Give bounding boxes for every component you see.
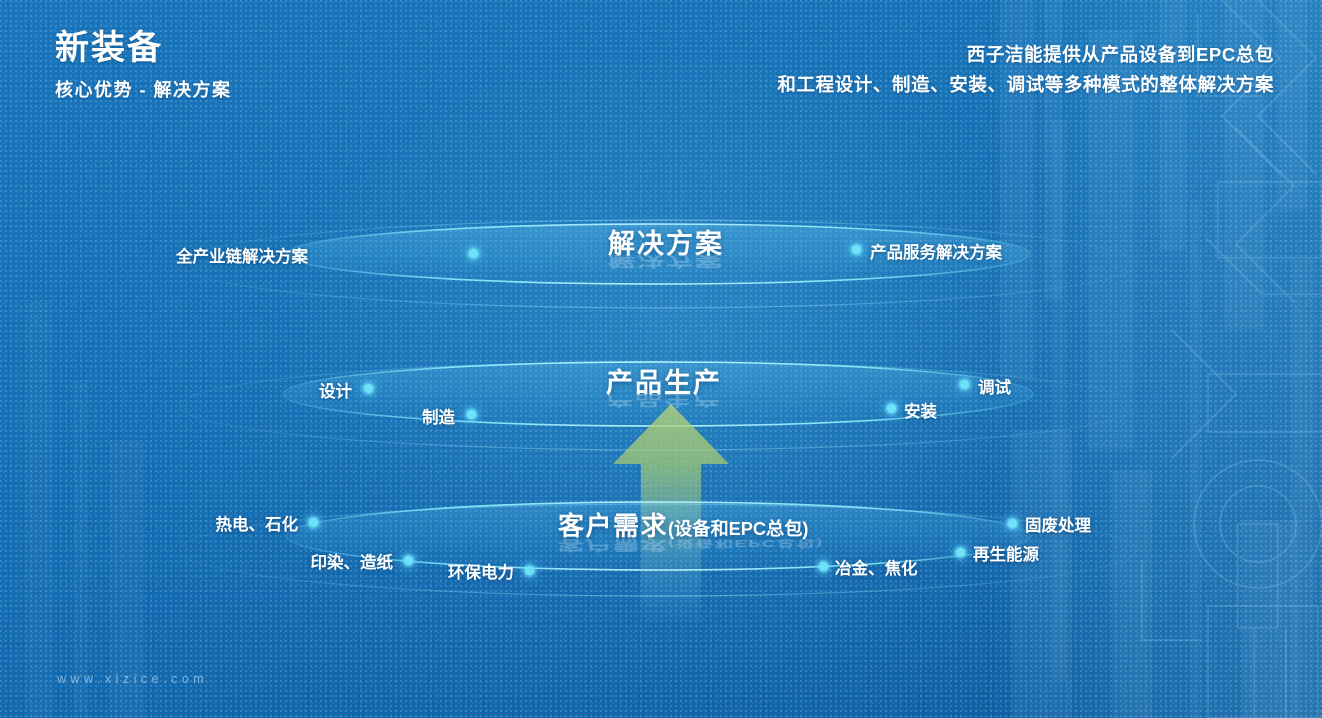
node-dot-design[interactable] bbox=[364, 384, 373, 393]
node-dot-installation[interactable] bbox=[887, 404, 896, 413]
node-label-solid-waste[interactable]: 固废处理 bbox=[1025, 512, 1091, 536]
ring-customer-demand-reflection-suffix: (设备和EPC总包) bbox=[668, 538, 823, 549]
node-dot-environmental-power[interactable] bbox=[525, 566, 534, 575]
node-dot-metallurgy-coking[interactable] bbox=[819, 562, 828, 571]
ring-production: 产品生产 产品生产 设计 制造 安装 调试 bbox=[178, 358, 1138, 450]
node-label-manufacture[interactable]: 制造 bbox=[422, 404, 455, 428]
tagline-line-2: 和工程设计、制造、安装、调试等多种模式的整体解决方案 bbox=[777, 70, 1274, 100]
node-dot-manufacture[interactable] bbox=[467, 410, 476, 419]
ring-customer-demand-title-reflection: 客户需求(设备和EPC总包) bbox=[558, 536, 823, 556]
header-left-block: 新装备 核心优势 - 解决方案 bbox=[55, 30, 232, 102]
node-label-full-chain[interactable]: 全产业链解决方案 bbox=[176, 243, 308, 267]
page-subtitle: 核心优势 - 解决方案 bbox=[55, 76, 232, 102]
ring-solution-reflection-text: 解决方案 bbox=[608, 253, 724, 270]
node-label-metallurgy-coking[interactable]: 冶金、焦化 bbox=[835, 555, 918, 579]
ring-solution-title-reflection: 解决方案 bbox=[608, 252, 724, 273]
node-label-installation[interactable]: 安装 bbox=[904, 398, 937, 422]
node-dot-product-service[interactable] bbox=[852, 245, 861, 254]
node-dot-solid-waste[interactable] bbox=[1008, 519, 1017, 528]
node-dot-thermal-petrochemical[interactable] bbox=[309, 518, 318, 527]
header-tagline: 西子洁能提供从产品设备到EPC总包 和工程设计、制造、安装、调试等多种模式的整体… bbox=[777, 40, 1274, 100]
ring-solution: 解决方案 解决方案 全产业链解决方案 产品服务解决方案 bbox=[178, 218, 1138, 310]
node-label-printing-paper[interactable]: 印染、造纸 bbox=[311, 549, 394, 573]
node-dot-renewable-energy[interactable] bbox=[956, 548, 965, 557]
node-dot-printing-paper[interactable] bbox=[404, 556, 413, 565]
tagline-line-1: 西子洁能提供从产品设备到EPC总包 bbox=[777, 40, 1274, 70]
node-label-environmental-power[interactable]: 环保电力 bbox=[448, 559, 514, 583]
page-title: 新装备 bbox=[55, 30, 232, 67]
node-label-design[interactable]: 设计 bbox=[319, 378, 352, 402]
node-dot-full-chain[interactable] bbox=[469, 249, 478, 258]
footer-website[interactable]: www.xizice.com bbox=[57, 672, 208, 686]
node-label-thermal-petrochemical[interactable]: 热电、石化 bbox=[216, 511, 299, 535]
ring-production-reflection-text: 产品生产 bbox=[606, 392, 722, 409]
ring-production-title-reflection: 产品生产 bbox=[606, 391, 722, 412]
slide-canvas: 新装备 核心优势 - 解决方案 西子洁能提供从产品设备到EPC总包 和工程设计、… bbox=[0, 0, 1322, 718]
node-label-product-service[interactable]: 产品服务解决方案 bbox=[870, 239, 1002, 263]
ring-customer-demand-reflection-text: 客户需求 bbox=[558, 537, 668, 554]
node-label-renewable-energy[interactable]: 再生能源 bbox=[973, 541, 1039, 565]
node-dot-commissioning[interactable] bbox=[960, 380, 969, 389]
ring-customer-demand: 客户需求(设备和EPC总包) 客户需求(设备和EPC总包) 热电、石化 印染、造… bbox=[178, 498, 1138, 594]
node-label-commissioning[interactable]: 调试 bbox=[978, 374, 1011, 398]
